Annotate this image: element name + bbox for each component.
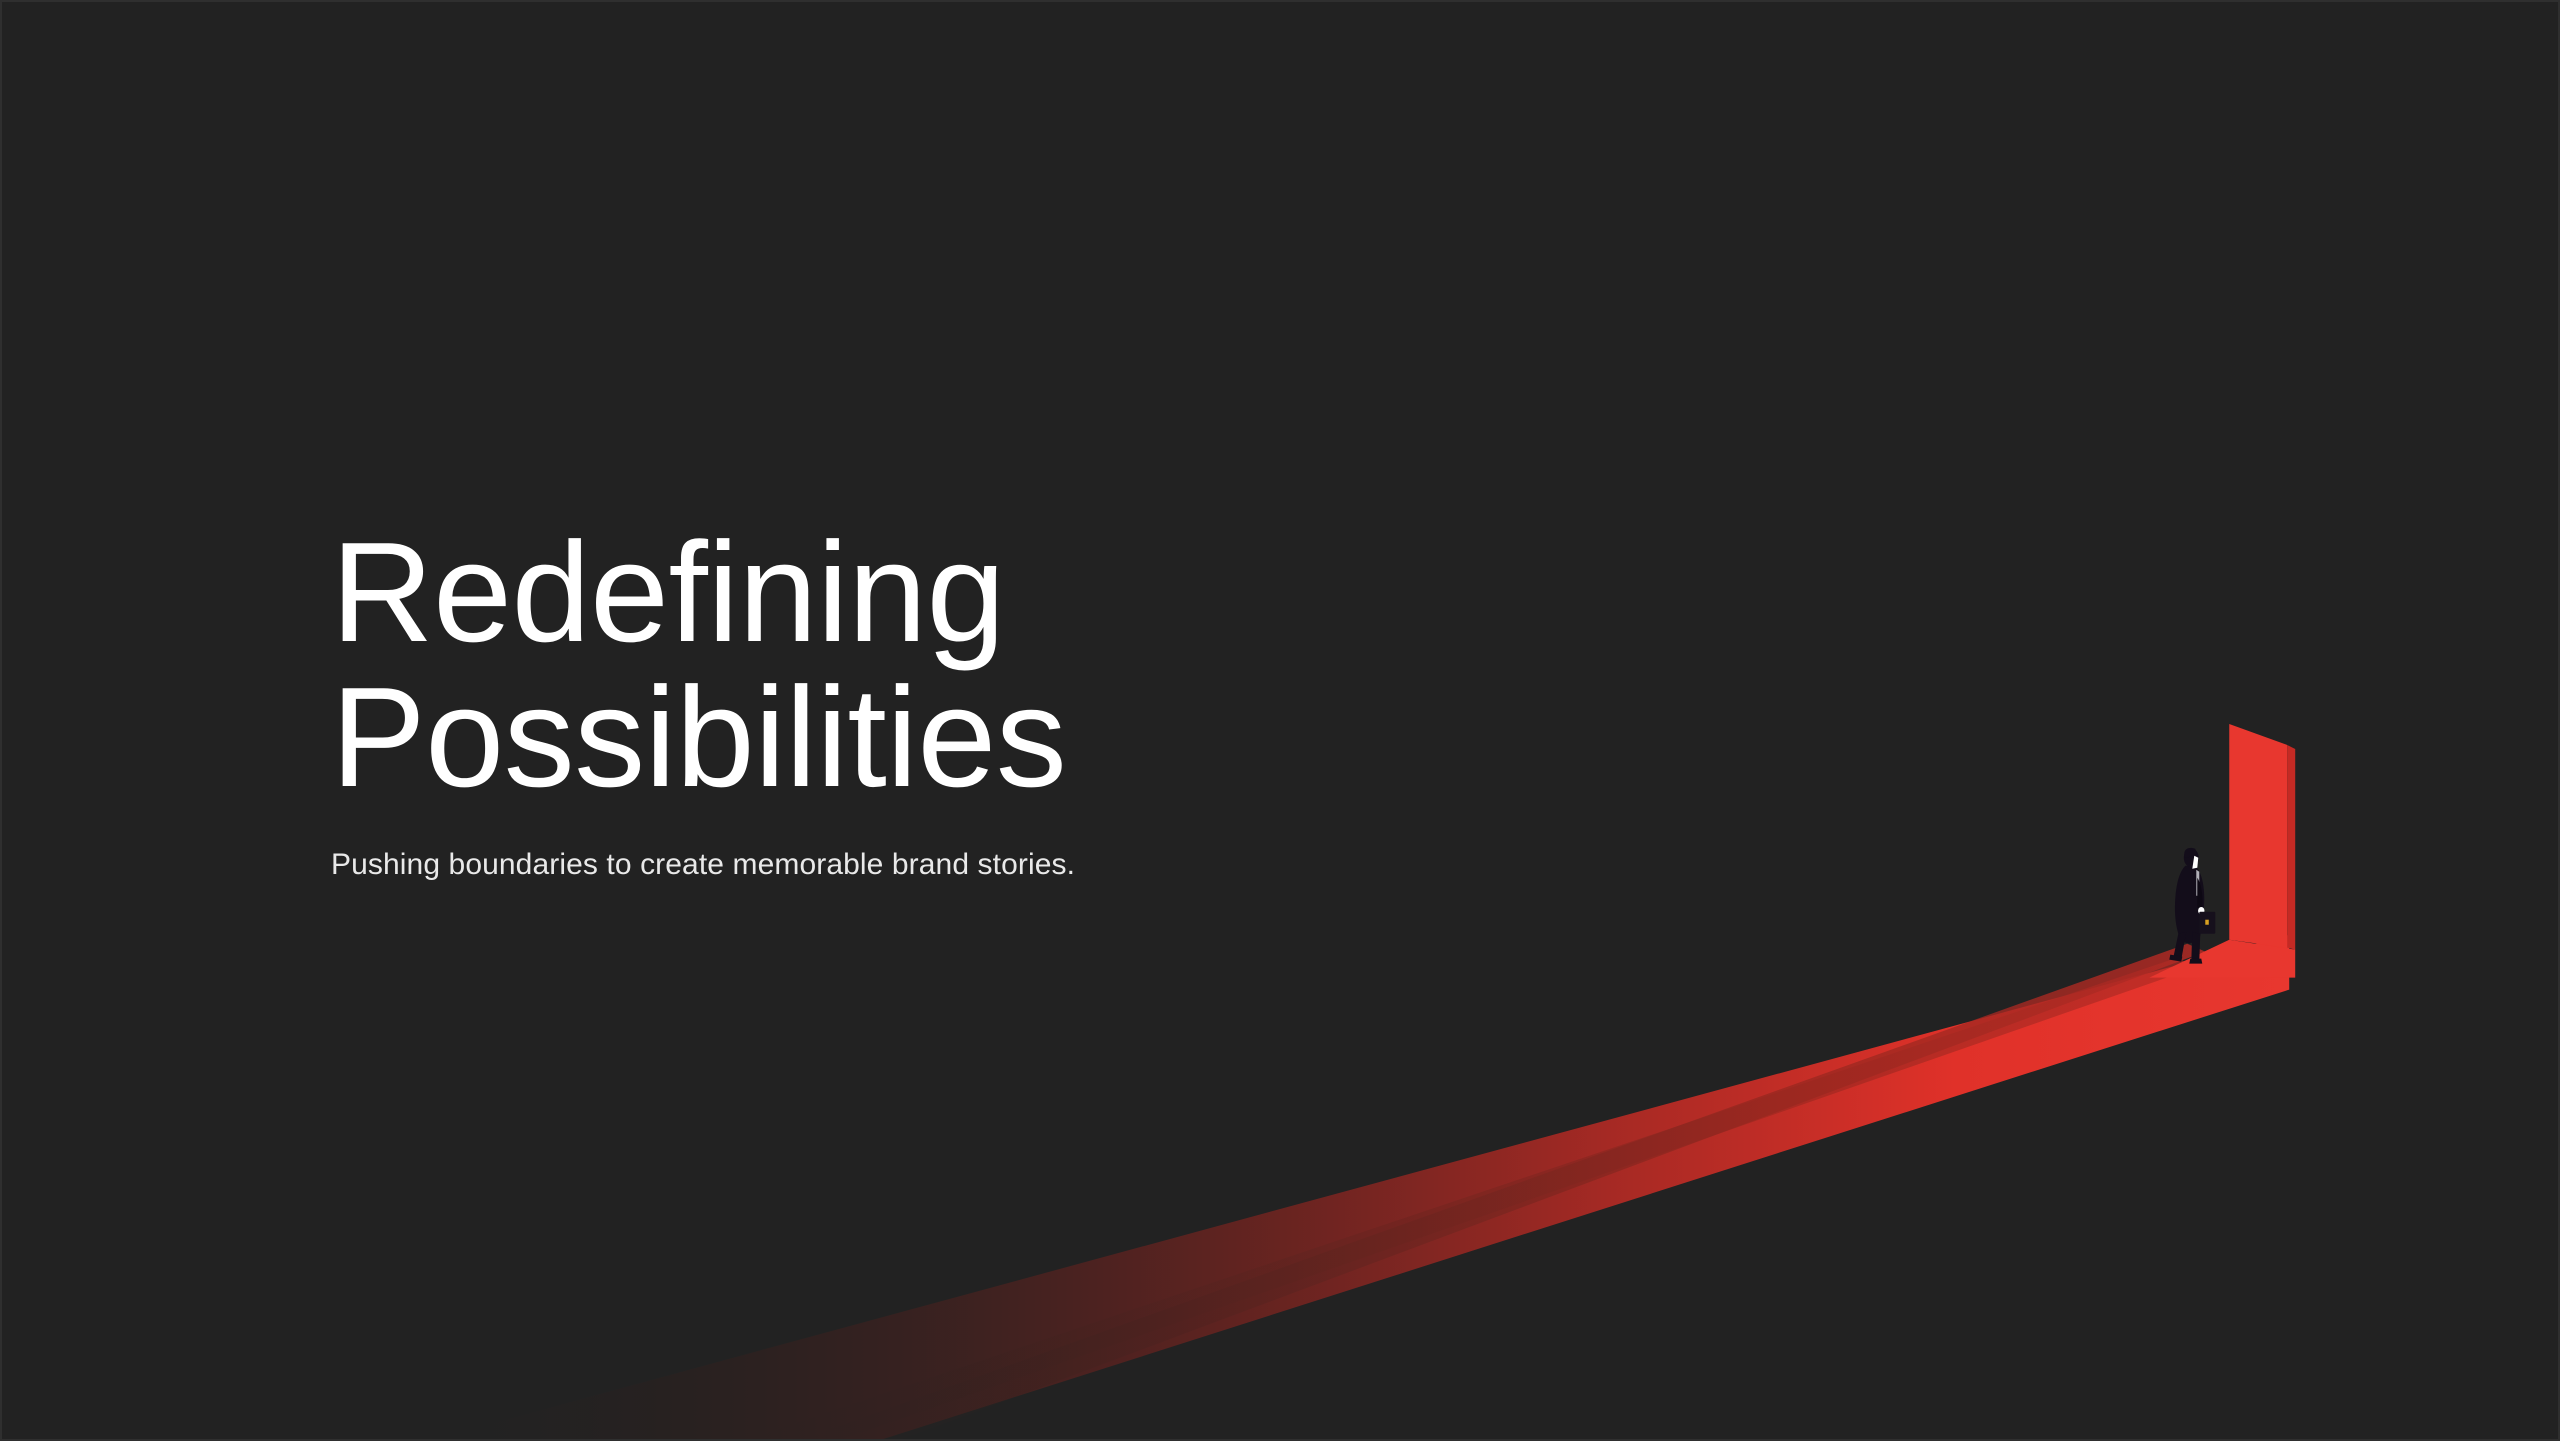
doorway-edge (2287, 745, 2295, 950)
briefcase-clasp (2205, 920, 2208, 925)
figure-leg-front (2191, 932, 2200, 962)
page-title: Redefining Possibilities (331, 521, 1731, 811)
hero-subtitle: Pushing boundaries to create memorable b… (331, 811, 1731, 884)
hero-text-block: Redefining Possibilities Pushing boundar… (331, 521, 1731, 884)
slide-canvas: Redefining Possibilities Pushing boundar… (0, 0, 2560, 1441)
doorway-panel (2229, 724, 2287, 948)
figure-shoe-front (2189, 959, 2202, 964)
